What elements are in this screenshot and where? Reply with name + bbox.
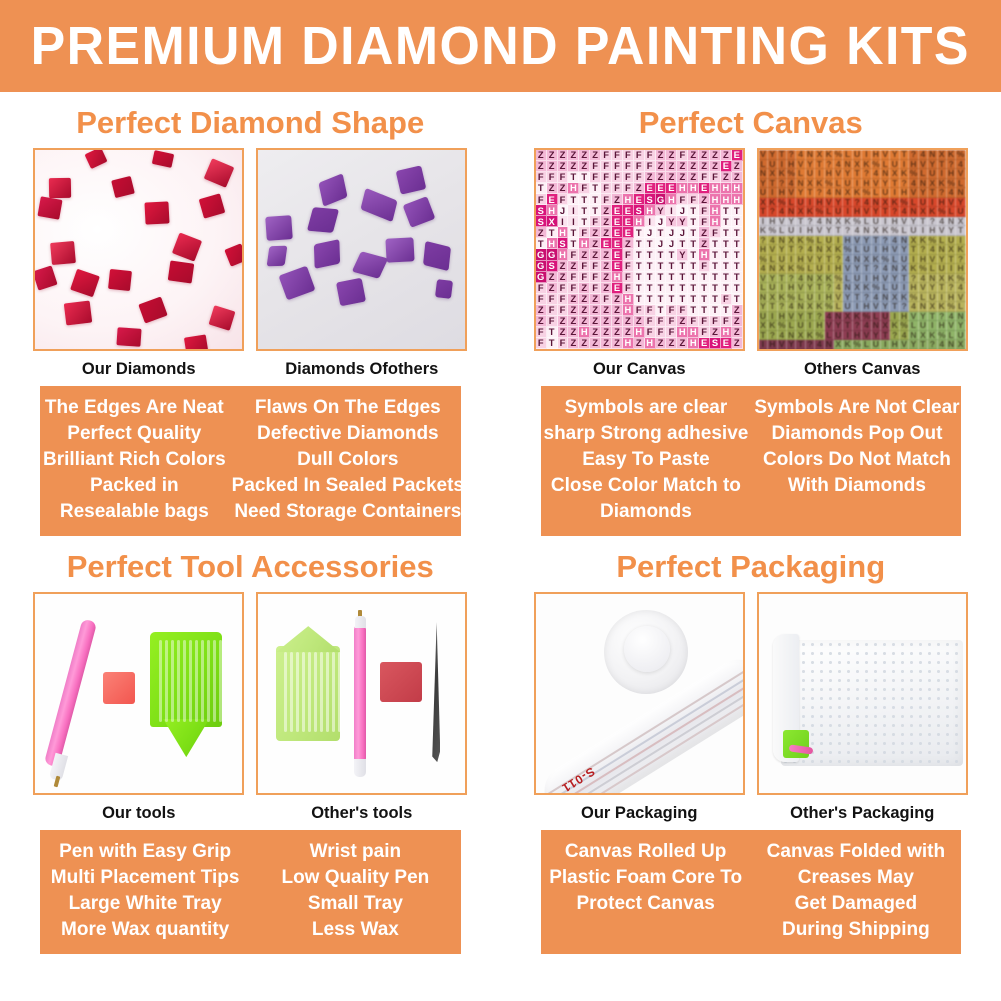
canvas-symbol-cell: F bbox=[601, 194, 612, 205]
info-line: Small Tray bbox=[253, 891, 457, 917]
canvas-symbol-cell: Z bbox=[656, 150, 667, 161]
canvas-symbol-cell: T bbox=[732, 261, 743, 272]
green-tray-peeking-icon bbox=[783, 730, 809, 758]
canvas-symbol-cell: T bbox=[688, 238, 699, 249]
canvas-symbol-cell: J bbox=[558, 205, 569, 216]
diamond-square-icon bbox=[50, 241, 76, 265]
tray-ridges-icon bbox=[159, 640, 222, 722]
canvas-symbol-cell: J bbox=[677, 227, 688, 238]
section-row-2: Perfect Tool Accessories bbox=[0, 536, 1001, 954]
canvas-symbol-cell: S bbox=[645, 194, 656, 205]
canvas-symbol-cell: F bbox=[623, 261, 634, 272]
canvas-symbol-cell: Z bbox=[732, 338, 743, 349]
canvas-symbol-cell: T bbox=[677, 294, 688, 305]
canvas-symbol-cell: Z bbox=[645, 172, 656, 183]
canvas-symbol-cell: T bbox=[688, 216, 699, 227]
canvas-symbol-cell: T bbox=[645, 238, 656, 249]
canvas-symbol-cell: Z bbox=[590, 294, 601, 305]
canvas-symbol-cell: H bbox=[547, 205, 558, 216]
canvas-symbol-cell: I bbox=[568, 205, 579, 216]
canvas-symbol-cell: Z bbox=[677, 316, 688, 327]
canvas-symbol-cell: Z bbox=[568, 316, 579, 327]
caption-our-diamonds: Our Diamonds bbox=[33, 351, 244, 386]
canvas-symbol-cell: H bbox=[558, 249, 569, 260]
canvas-symbol-cell: F bbox=[699, 216, 710, 227]
canvas-symbol-cell: H bbox=[645, 338, 656, 349]
canvas-symbol-cell: F bbox=[601, 183, 612, 194]
canvas-symbol-cell: X bbox=[547, 216, 558, 227]
info-column-theirs: Wrist painLow Quality PenSmall TrayLess … bbox=[250, 839, 460, 943]
photo-others-canvas: VYT?4NXK%LUIHVYT?4NXK%LUIHVYT?4NXK%LUIHV… bbox=[757, 148, 968, 351]
caption-our-packaging: Our Packaging bbox=[534, 795, 745, 830]
canvas-symbol-cell: H bbox=[721, 194, 732, 205]
canvas-symbol-cell: Z bbox=[590, 227, 601, 238]
section-title-tool-accessories: Perfect Tool Accessories bbox=[0, 536, 501, 592]
canvas-symbol-cell: Z bbox=[612, 338, 623, 349]
diamond-square-icon bbox=[145, 201, 170, 224]
canvas-symbol-cell: G bbox=[536, 249, 547, 260]
canvas-symbol-cell: T bbox=[710, 249, 721, 260]
info-line: Diamonds Pop Out bbox=[754, 421, 959, 447]
info-line: Canvas Rolled Up bbox=[544, 839, 748, 865]
info-line: The Edges Are Neat bbox=[43, 395, 226, 421]
info-line: Less Wax bbox=[253, 917, 457, 943]
info-line: Protect Canvas bbox=[544, 891, 748, 917]
canvas-symbol-cell: T bbox=[656, 249, 667, 260]
photo-pair-tools: Our tools bbox=[0, 592, 501, 830]
info-column-ours: Canvas Rolled UpPlastic Foam Core ToProt… bbox=[541, 839, 751, 943]
canvas-symbol-cell: I bbox=[645, 216, 656, 227]
canvas-symbol-cell: S bbox=[536, 216, 547, 227]
canvas-symbol-cell: T bbox=[677, 238, 688, 249]
canvas-symbol-cell: F bbox=[656, 316, 667, 327]
canvas-symbol-cell: Z bbox=[634, 338, 645, 349]
canvas-symbol-cell: % bbox=[768, 350, 777, 352]
our-packaging-image: S-011 bbox=[536, 594, 743, 793]
canvas-symbol-cell: T bbox=[732, 272, 743, 283]
canvas-symbol-cell: T bbox=[721, 227, 732, 238]
info-line: Need Storage Containers bbox=[232, 499, 464, 525]
canvas-symbol-cell: T bbox=[721, 205, 732, 216]
canvas-symbol-cell: Z bbox=[558, 183, 569, 194]
canvas-symbol-cell: F bbox=[536, 294, 547, 305]
canvas-symbol-cell: Z bbox=[699, 227, 710, 238]
cell-our-canvas: ZZZZZZFFFFFZZFZZZZEZZZZZFFFFFFZZZZZZEZFF… bbox=[534, 148, 745, 386]
info-line: Perfect Quality bbox=[43, 421, 226, 447]
canvas-symbol-cell: S bbox=[547, 261, 558, 272]
canvas-symbol-cell: F bbox=[710, 316, 721, 327]
info-box-diamond-shape: The Edges Are NeatPerfect QualityBrillia… bbox=[40, 386, 461, 536]
canvas-symbol-cell: F bbox=[558, 338, 569, 349]
photo-our-tools bbox=[33, 592, 244, 795]
info-column-ours: The Edges Are NeatPerfect QualityBrillia… bbox=[40, 395, 229, 525]
canvas-symbol-cell: E bbox=[612, 249, 623, 260]
canvas-symbol-cell: E bbox=[645, 183, 656, 194]
diamond-square-icon bbox=[70, 269, 100, 298]
canvas-symbol-cell: F bbox=[547, 316, 558, 327]
canvas-symbol-cell: Z bbox=[601, 216, 612, 227]
canvas-symbol-cell: Z bbox=[568, 338, 579, 349]
canvas-symbol-cell: F bbox=[612, 183, 623, 194]
canvas-symbol-cell: T bbox=[645, 294, 656, 305]
canvas-symbol-cell: F bbox=[590, 172, 601, 183]
info-line: Get Damaged bbox=[754, 891, 958, 917]
diamond-square-icon bbox=[108, 269, 132, 291]
info-line: Creases May bbox=[754, 865, 958, 891]
canvas-symbol-cell: Y bbox=[656, 205, 667, 216]
photo-pair-diamond-shape: Our Diamonds Diamonds Ofothers bbox=[0, 148, 501, 386]
diamond-square-icon bbox=[139, 296, 168, 323]
canvas-symbol-cell: Z bbox=[590, 249, 601, 260]
canvas-symbol-cell: F bbox=[558, 194, 569, 205]
canvas-symbol-cell: Z bbox=[579, 249, 590, 260]
canvas-symbol-cell: T bbox=[688, 294, 699, 305]
canvas-symbol-cell: Z bbox=[601, 261, 612, 272]
canvas-symbol-cell: Z bbox=[568, 150, 579, 161]
canvas-symbol-cell: S bbox=[536, 205, 547, 216]
caption-our-canvas: Our Canvas bbox=[534, 351, 745, 386]
green-tray-spout-icon bbox=[163, 719, 209, 757]
deformed-diamond-icon bbox=[361, 188, 398, 222]
pink-pen-icon bbox=[44, 619, 97, 768]
canvas-symbol-cell: Z bbox=[547, 272, 558, 283]
canvas-symbol-cell: Z bbox=[612, 316, 623, 327]
tube-cap-inner-icon bbox=[624, 626, 670, 672]
canvas-symbol-cell: T bbox=[656, 272, 667, 283]
info-line: Defective Diamonds bbox=[232, 421, 464, 447]
canvas-symbol-cell: G bbox=[536, 261, 547, 272]
canvas-symbol-cell: Z bbox=[601, 316, 612, 327]
canvas-symbol-cell: Z bbox=[634, 316, 645, 327]
canvas-symbol-cell: Z bbox=[547, 183, 558, 194]
canvas-symbol-cell: T bbox=[634, 261, 645, 272]
canvas-symbol-cell: G bbox=[547, 249, 558, 260]
canvas-symbol-cell: T bbox=[710, 238, 721, 249]
canvas-symbol-cell: F bbox=[666, 316, 677, 327]
canvas-symbol-cell: T bbox=[688, 272, 699, 283]
canvas-symbol-cell: F bbox=[623, 150, 634, 161]
canvas-symbol-cell: Z bbox=[579, 338, 590, 349]
photo-our-packaging: S-011 bbox=[534, 592, 745, 795]
info-line: Pen with Easy Grip bbox=[43, 839, 247, 865]
canvas-symbol-cell: Y bbox=[677, 216, 688, 227]
deformed-diamond-icon bbox=[279, 266, 316, 301]
cell-our-diamonds: Our Diamonds bbox=[33, 148, 244, 386]
canvas-symbol-cell: T bbox=[732, 216, 743, 227]
canvas-symbol-cell: Z bbox=[558, 272, 569, 283]
others-tools-image bbox=[258, 594, 465, 793]
canvas-symbol-cell: E bbox=[732, 150, 743, 161]
info-line: With Diamonds bbox=[754, 473, 959, 499]
info-line: Multi Placement Tips bbox=[43, 865, 247, 891]
canvas-symbol-cell: F bbox=[710, 227, 721, 238]
canvas-symbol-cell: T bbox=[732, 294, 743, 305]
canvas-symbol-cell: H bbox=[568, 183, 579, 194]
canvas-symbol-cell: T bbox=[568, 172, 579, 183]
deformed-diamond-icon bbox=[265, 215, 293, 241]
diamond-square-icon bbox=[199, 193, 226, 218]
info-line: Packed In Sealed Packets bbox=[232, 473, 464, 499]
canvas-symbol-cell: H bbox=[547, 238, 558, 249]
cell-others-canvas: VYT?4NXK%LUIHVYT?4NXK%LUIHVYT?4NXK%LUIHV… bbox=[757, 148, 968, 386]
section-diamond-shape: Perfect Diamond Shape Our Diamonds Diamo… bbox=[0, 92, 501, 536]
info-line: During Shipping bbox=[754, 917, 958, 943]
canvas-symbol-cell: Z bbox=[721, 172, 732, 183]
canvas-symbol-cell: T bbox=[656, 227, 667, 238]
canvas-symbol-cell: T bbox=[688, 227, 699, 238]
deformed-diamond-icon bbox=[435, 279, 453, 299]
canvas-symbol-cell: Z bbox=[601, 227, 612, 238]
pen-white-tip-icon bbox=[355, 616, 366, 628]
canvas-symbol-cell: T bbox=[590, 183, 601, 194]
canvas-symbol-cell: Z bbox=[666, 150, 677, 161]
canvas-symbol-cell: H bbox=[928, 350, 937, 352]
caption-others-tools: Other's tools bbox=[256, 795, 467, 830]
info-line: Brilliant Rich Colors bbox=[43, 447, 226, 473]
info-column-ours: Symbols are clearsharp Strong adhesiveEa… bbox=[541, 395, 752, 525]
purple-diamonds-image bbox=[258, 150, 465, 349]
canvas-symbol-cell: E bbox=[601, 238, 612, 249]
canvas-symbol-cell: Z bbox=[590, 150, 601, 161]
canvas-symbol-cell: F bbox=[623, 272, 634, 283]
canvas-symbol-cell: F bbox=[536, 172, 547, 183]
canvas-symbol-cell: Z bbox=[579, 316, 590, 327]
canvas-symbol-cell: J bbox=[677, 205, 688, 216]
info-line: Flaws On The Edges bbox=[232, 395, 464, 421]
canvas-symbol-cell: F bbox=[590, 272, 601, 283]
caption-others-diamonds: Diamonds Ofothers bbox=[256, 351, 467, 386]
canvas-symbol-cell: Z bbox=[656, 338, 667, 349]
canvas-symbol-cell: S bbox=[634, 205, 645, 216]
our-tools-image bbox=[35, 594, 242, 793]
canvas-symbol-cell: T bbox=[634, 272, 645, 283]
canvas-symbol-cell: T bbox=[568, 194, 579, 205]
canvas-symbol-cell: Z bbox=[590, 316, 601, 327]
info-line: Easy To Paste bbox=[544, 447, 749, 473]
canvas-symbol-cell: Y bbox=[947, 350, 956, 352]
diamond-square-icon bbox=[64, 300, 92, 325]
canvas-symbol-cell: F bbox=[590, 261, 601, 272]
canvas-symbol-cell: I bbox=[919, 350, 928, 352]
canvas-symbol-cell: E bbox=[612, 205, 623, 216]
canvas-symbol-cell: F bbox=[677, 194, 688, 205]
info-column-theirs: Canvas Folded withCreases MayGet Damaged… bbox=[751, 839, 961, 943]
canvas-symbol-cell: F bbox=[688, 194, 699, 205]
deformed-diamond-icon bbox=[396, 165, 427, 194]
pale-tray-ridges-icon bbox=[284, 652, 341, 732]
info-line: Colors Do Not Match bbox=[754, 447, 959, 473]
canvas-symbol-cell: F bbox=[634, 150, 645, 161]
canvas-symbol-cell: Z bbox=[558, 316, 569, 327]
canvas-symbol-cell: T bbox=[536, 183, 547, 194]
canvas-symbol-cell: E bbox=[666, 183, 677, 194]
canvas-symbol-cell: L bbox=[900, 350, 909, 352]
canvas-symbol-cell: T bbox=[579, 216, 590, 227]
header-banner: PREMIUM DIAMOND PAINTING KITS bbox=[0, 0, 1001, 92]
canvas-symbol-cell: H bbox=[677, 183, 688, 194]
canvas-symbol-cell: E bbox=[547, 194, 558, 205]
deformed-diamond-icon bbox=[307, 207, 339, 233]
info-line: Large White Tray bbox=[43, 891, 247, 917]
canvas-symbol-cell: F bbox=[612, 150, 623, 161]
canvas-symbol-cell: H bbox=[623, 338, 634, 349]
canvas-symbol-cell: E bbox=[721, 338, 732, 349]
info-line: Canvas Folded with bbox=[754, 839, 958, 865]
red-diamonds-image bbox=[35, 150, 242, 349]
canvas-symbol-cell: Z bbox=[732, 172, 743, 183]
diamond-square-icon bbox=[33, 265, 58, 290]
canvas-symbol-cell: T bbox=[732, 205, 743, 216]
canvas-symbol-cell: Z bbox=[601, 338, 612, 349]
canvas-symbol-cell: F bbox=[710, 172, 721, 183]
info-box-canvas: Symbols are clearsharp Strong adhesiveEa… bbox=[541, 386, 962, 536]
tweezers-icon bbox=[432, 622, 440, 762]
canvas-symbol-cell: L bbox=[778, 350, 787, 352]
photo-pair-canvas: ZZZZZZFFFFFZZFZZZZEZZZZZFFFFFFZZZZZZEZFF… bbox=[501, 148, 1001, 386]
photo-others-packaging bbox=[757, 592, 968, 795]
section-title-packaging: Perfect Packaging bbox=[501, 536, 1001, 592]
diamond-square-icon bbox=[204, 158, 235, 188]
canvas-symbol-cell: S bbox=[710, 338, 721, 349]
canvas-symbol-cell: J bbox=[666, 227, 677, 238]
canvas-symbol-cell: I bbox=[666, 205, 677, 216]
canvas-symbol-cell: V bbox=[815, 350, 824, 352]
canvas-symbol-cell: T bbox=[568, 238, 579, 249]
canvas-symbol-cell: T bbox=[710, 272, 721, 283]
canvas-symbol-cell: F bbox=[645, 316, 656, 327]
pen-metal-tip-icon bbox=[54, 776, 61, 788]
canvas-symbol-cell: U bbox=[909, 350, 918, 352]
info-line: Symbols are clear bbox=[544, 395, 749, 421]
canvas-symbol-cell: Z bbox=[656, 172, 667, 183]
photo-our-diamonds bbox=[33, 148, 244, 351]
canvas-symbol-cell: F bbox=[721, 294, 732, 305]
canvas-symbol-cell: F bbox=[590, 216, 601, 227]
canvas-symbol-cell: T bbox=[666, 261, 677, 272]
canvas-symbol-cell: T bbox=[710, 261, 721, 272]
canvas-symbol-cell: F bbox=[634, 172, 645, 183]
canvas-symbol-cell: E bbox=[612, 238, 623, 249]
canvas-symbol-cell: T bbox=[645, 249, 656, 260]
canvas-symbol-cell: Z bbox=[590, 238, 601, 249]
canvas-symbol-cell: S bbox=[558, 238, 569, 249]
diamond-square-icon bbox=[168, 260, 195, 283]
canvas-symbol-cell: Y bbox=[677, 249, 688, 260]
canvas-symbol-cell: Z bbox=[634, 183, 645, 194]
deformed-diamond-icon bbox=[319, 173, 348, 207]
diamond-square-icon bbox=[111, 176, 135, 198]
canvas-symbol-cell: J bbox=[645, 227, 656, 238]
canvas-symbol-cell: Z bbox=[601, 272, 612, 283]
section-title-canvas: Perfect Canvas bbox=[501, 92, 1001, 148]
canvas-symbol-cell: F bbox=[721, 316, 732, 327]
canvas-symbol-cell: H bbox=[710, 205, 721, 216]
deformed-diamond-icon bbox=[336, 278, 366, 307]
canvas-symbol-cell: T bbox=[634, 249, 645, 260]
canvas-symbol-cell: E bbox=[656, 183, 667, 194]
canvas-symbol-cell: T bbox=[645, 261, 656, 272]
diamond-square-icon bbox=[117, 327, 142, 347]
canvas-symbol-cell: X bbox=[872, 350, 881, 352]
caption-our-tools: Our tools bbox=[33, 795, 244, 830]
canvas-symbol-cell: T bbox=[688, 249, 699, 260]
canvas-symbol-cell: Z bbox=[688, 150, 699, 161]
diamond-square-icon bbox=[85, 148, 108, 169]
deformed-diamond-icon bbox=[314, 239, 340, 269]
wax-square-icon bbox=[103, 672, 135, 704]
canvas-symbol-cell: T bbox=[656, 294, 667, 305]
canvas-symbol-cell: H bbox=[645, 205, 656, 216]
canvas-symbol-cell: T bbox=[721, 238, 732, 249]
diamond-square-icon bbox=[184, 334, 208, 351]
canvas-symbol-cell: F bbox=[568, 272, 579, 283]
canvas-symbol-cell: T bbox=[721, 272, 732, 283]
section-canvas: Perfect Canvas ZZZZZZFFFFFZZFZZZZEZZZZZF… bbox=[501, 92, 1001, 536]
canvas-symbol-cell: E bbox=[612, 216, 623, 227]
info-column-ours: Pen with Easy GripMulti Placement TipsLa… bbox=[40, 839, 250, 943]
canvas-symbol-cell: Z bbox=[699, 194, 710, 205]
blurry-canvas-image: VYT?4NXK%LUIHVYT?4NXK%LUIHVYT?4NXK%LUIHV… bbox=[759, 150, 966, 349]
canvas-symbol-cell: T bbox=[579, 172, 590, 183]
canvas-symbol-cell: T bbox=[634, 238, 645, 249]
info-line: Wrist pain bbox=[253, 839, 457, 865]
canvas-symbol-cell: Y bbox=[666, 216, 677, 227]
info-line: Plastic Foam Core To bbox=[544, 865, 748, 891]
canvas-symbol-cell: H bbox=[710, 216, 721, 227]
canvas-symbol-cell: T bbox=[666, 249, 677, 260]
pen-white-base-icon bbox=[354, 759, 366, 777]
photo-others-diamonds bbox=[256, 148, 467, 351]
caption-others-packaging: Other's Packaging bbox=[757, 795, 968, 830]
canvas-symbol-cell: T bbox=[579, 194, 590, 205]
info-line: Packed in bbox=[43, 473, 226, 499]
cell-others-diamonds: Diamonds Ofothers bbox=[256, 148, 467, 386]
canvas-symbol-cell: F bbox=[579, 227, 590, 238]
canvas-symbol-cell: E bbox=[699, 183, 710, 194]
canvas-symbol-cell: Z bbox=[699, 238, 710, 249]
canvas-symbol-cell: T bbox=[688, 261, 699, 272]
diamond-square-icon bbox=[225, 243, 245, 266]
canvas-symbol-cell: Z bbox=[699, 150, 710, 161]
canvas-symbol-cell: T bbox=[579, 205, 590, 216]
canvas-symbol-cell: J bbox=[666, 238, 677, 249]
canvas-symbol-cell: Z bbox=[579, 150, 590, 161]
canvas-symbol-cell: F bbox=[623, 249, 634, 260]
section-row-1: Perfect Diamond Shape Our Diamonds Diamo… bbox=[0, 92, 1001, 536]
canvas-symbol-cell: H bbox=[666, 194, 677, 205]
canvas-symbol-cell: F bbox=[612, 172, 623, 183]
canvas-symbol-cell: Y bbox=[825, 350, 834, 352]
diamond-square-icon bbox=[152, 150, 174, 168]
section-packaging: Perfect Packaging bbox=[501, 536, 1001, 954]
pink-symbol-grid-image: ZZZZZZFFFFFZZFZZZZEZZZZZFFFFFFZZZZZZEZFF… bbox=[536, 150, 743, 349]
canvas-symbol-cell: J bbox=[656, 216, 667, 227]
deformed-diamond-icon bbox=[403, 196, 436, 228]
diamond-square-icon bbox=[38, 196, 63, 220]
canvas-symbol-cell: T bbox=[732, 249, 743, 260]
canvas-symbol-cell: Z bbox=[558, 150, 569, 161]
canvas-symbol-cell: T bbox=[666, 294, 677, 305]
canvas-symbol-cell: E bbox=[623, 205, 634, 216]
info-line: Symbols Are Not Clear bbox=[754, 395, 959, 421]
canvas-symbol-cell: E bbox=[623, 227, 634, 238]
canvas-symbol-cell: E bbox=[699, 338, 710, 349]
canvas-symbol-cell: F bbox=[558, 172, 569, 183]
canvas-symbol-cell: E bbox=[612, 227, 623, 238]
canvas-symbol-cell: Z bbox=[536, 316, 547, 327]
canvas-symbol-cell: Z bbox=[568, 294, 579, 305]
info-box-tools: Pen with Easy GripMulti Placement TipsLa… bbox=[40, 830, 461, 954]
